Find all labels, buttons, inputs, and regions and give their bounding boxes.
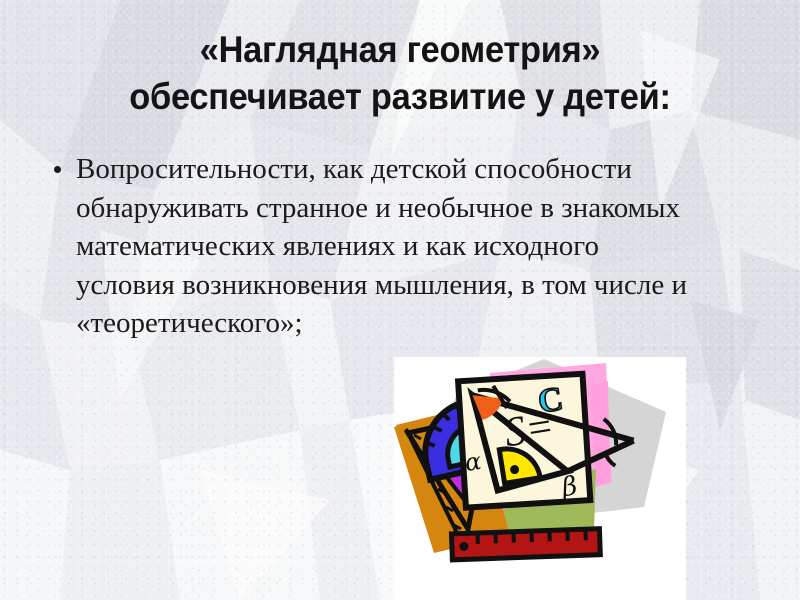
geometry-tools-image: S= C α β [394,357,686,600]
bullet-dot-icon [54,166,61,173]
title-line-1: «Наглядная геометрия» [54,26,746,73]
red-ruler-body [451,529,600,560]
title-line-2: обеспечивает развитие у детей: [54,73,746,120]
page-title: «Наглядная геометрия» обеспечивает разви… [28,26,772,120]
body-content: Вопросительности, как детской способност… [40,150,700,343]
red-ruler [451,529,600,560]
list-item-text: Вопросительности, как детской способност… [76,150,700,343]
slide-canvas: «Наглядная геометрия» обеспечивает разви… [0,0,800,600]
list-item: Вопросительности, как детской способност… [40,150,700,343]
